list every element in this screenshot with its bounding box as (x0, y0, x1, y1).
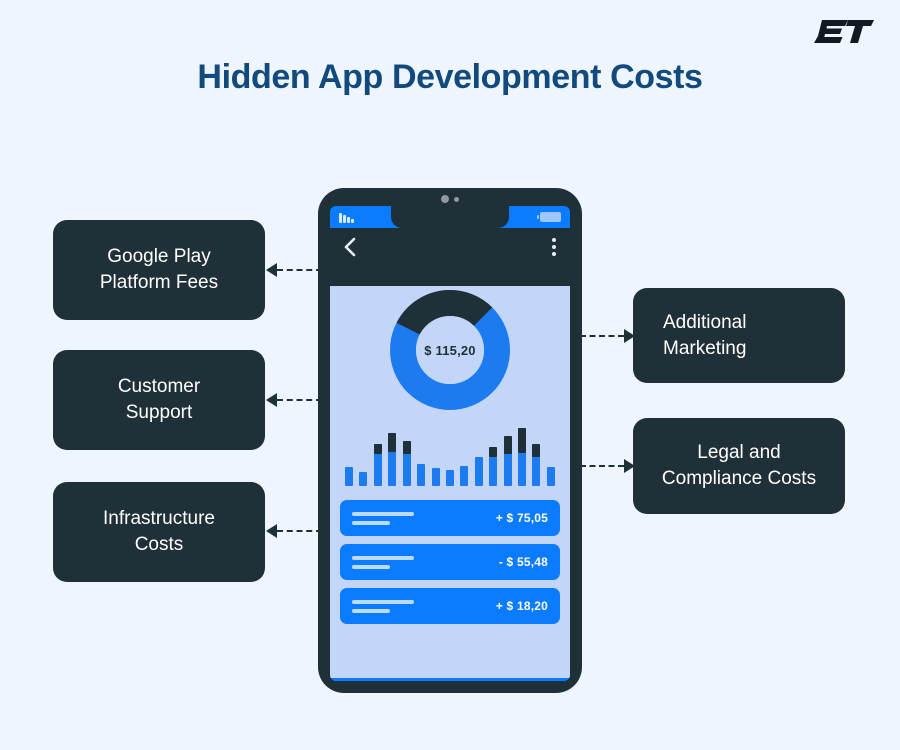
bar-chart-bar (460, 466, 468, 486)
card-line-1: Customer (118, 374, 200, 400)
connector-additional-marketing (580, 330, 635, 342)
bar-chart-bar-overage (403, 441, 411, 453)
bar-chart-bar (518, 428, 526, 486)
label-card-customer-support[interactable]: Customer Support (53, 350, 265, 450)
transaction-row[interactable]: - $ 55,48 (340, 544, 560, 580)
phone-mockup: $ 115,20 + $ 75,05 - $ 55,48 + $ 18,20 (318, 188, 582, 693)
transaction-placeholder (352, 600, 414, 613)
dashed-line (580, 465, 624, 467)
phone-camera-icon (318, 195, 582, 203)
transaction-placeholder (352, 556, 414, 569)
page-title: Hidden App Development Costs (0, 58, 900, 97)
card-line-1: Legal and (662, 440, 816, 466)
transaction-row[interactable]: + $ 75,05 (340, 500, 560, 536)
donut-amount-label: $ 115,20 (386, 286, 514, 414)
transaction-amount: - $ 55,48 (499, 555, 548, 569)
bar-chart-bar (359, 472, 367, 487)
battery-icon (540, 212, 561, 222)
card-line-1: Additional (663, 310, 746, 336)
app-nav-bar (330, 228, 570, 266)
bar-chart-bar (417, 464, 425, 486)
bar-chart (345, 428, 555, 486)
connector-legal-compliance (580, 460, 635, 472)
app-bottom-bar (330, 678, 570, 681)
transaction-amount: + $ 18,20 (496, 599, 548, 613)
transaction-placeholder (352, 512, 414, 525)
donut-chart: $ 115,20 (386, 286, 514, 414)
dashed-line (277, 530, 322, 532)
label-card-legal-compliance[interactable]: Legal and Compliance Costs (633, 418, 845, 514)
arrow-left-icon (266, 263, 277, 277)
card-line-2: Compliance Costs (662, 466, 816, 492)
transaction-amount: + $ 75,05 (496, 511, 548, 525)
bar-chart-bar (504, 436, 512, 486)
label-card-infrastructure-costs[interactable]: Infrastructure Costs (53, 482, 265, 582)
arrow-left-icon (266, 393, 277, 407)
bar-chart-bar-overage (374, 444, 382, 454)
et-logo (814, 14, 874, 48)
label-card-google-play[interactable]: Google Play Platform Fees (53, 220, 265, 320)
arrow-right-icon (624, 329, 635, 343)
signal-bars-icon (339, 212, 354, 223)
bar-chart-bar (432, 468, 440, 486)
dashed-line (277, 269, 322, 271)
connector-customer-support (266, 394, 322, 406)
card-line-1: Google Play (100, 244, 218, 270)
card-line-1: Infrastructure (103, 506, 215, 532)
status-notch (391, 206, 509, 228)
card-line-2: Support (118, 400, 200, 426)
status-bar (330, 206, 570, 228)
bar-chart-bar-overage (489, 447, 497, 457)
card-line-2: Platform Fees (100, 270, 218, 296)
bar-chart-bar (446, 470, 454, 486)
bar-chart-bar (388, 433, 396, 486)
arrow-right-icon (624, 459, 635, 473)
bar-chart-bar (374, 444, 382, 486)
bar-chart-bar-overage (388, 433, 396, 452)
card-line-2: Costs (103, 532, 215, 558)
bar-chart-bar-overage (518, 428, 526, 453)
bar-chart-bar (489, 447, 497, 486)
bar-chart-bar-overage (504, 436, 512, 455)
app-content: $ 115,20 + $ 75,05 - $ 55,48 + $ 18,20 (330, 286, 570, 678)
bar-chart-bar (345, 467, 353, 486)
phone-screen: $ 115,20 + $ 75,05 - $ 55,48 + $ 18,20 (330, 206, 570, 681)
kebab-menu-icon[interactable] (552, 238, 556, 256)
arrow-left-icon (266, 524, 277, 538)
bar-chart-bar (532, 444, 540, 486)
chevron-left-icon[interactable] (344, 237, 356, 257)
connector-google-play (266, 264, 322, 276)
label-card-additional-marketing[interactable]: Additional Marketing (633, 288, 845, 383)
bar-chart-bar (475, 457, 483, 486)
bar-chart-bar (547, 467, 555, 486)
dashed-line (580, 335, 624, 337)
bar-chart-bar (403, 441, 411, 486)
dashed-line (277, 399, 322, 401)
bar-chart-bar-overage (532, 444, 540, 457)
transaction-list: + $ 75,05 - $ 55,48 + $ 18,20 (340, 500, 560, 624)
card-line-2: Marketing (663, 336, 746, 362)
transaction-row[interactable]: + $ 18,20 (340, 588, 560, 624)
connector-infrastructure-costs (266, 525, 322, 537)
